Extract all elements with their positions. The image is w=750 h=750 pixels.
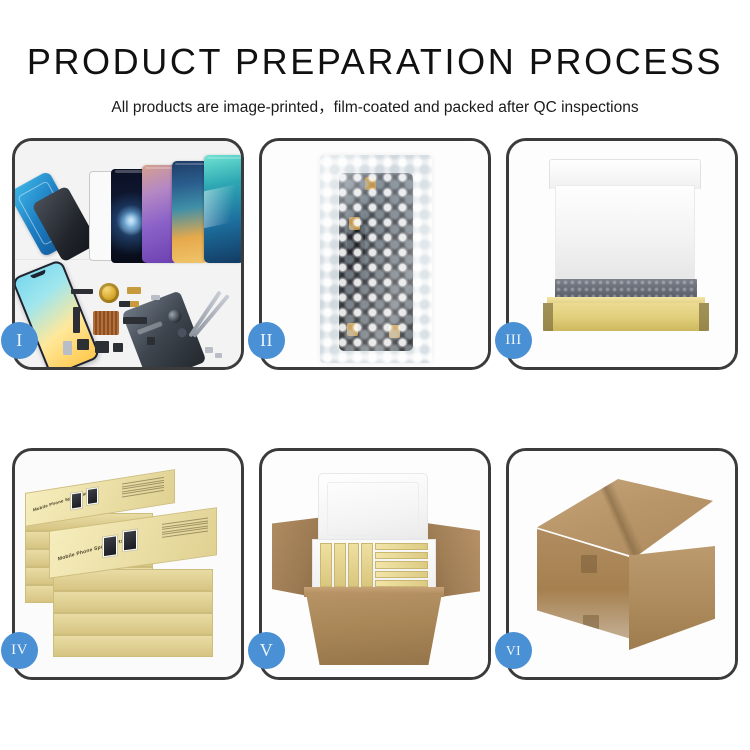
part-button-cap	[77, 339, 89, 350]
page-title: PRODUCT PREPARATION PROCESS	[0, 0, 750, 80]
phone-orange-icon	[172, 161, 208, 263]
part-screw-a	[205, 347, 213, 353]
step-badge-4: IV	[1, 632, 38, 669]
part-sim-tray	[113, 343, 123, 352]
inner-box-group-vertical	[320, 543, 373, 587]
carton-right-face	[629, 546, 715, 650]
stack-edge-f3	[53, 613, 213, 635]
part-gold-connector	[127, 287, 141, 294]
photo-open-carton	[262, 451, 488, 677]
step-panel-inner-box: III	[506, 138, 738, 370]
part-metal-bracket	[151, 295, 160, 300]
step-panel-carton-fill: V	[259, 448, 491, 680]
part-speaker-bar	[71, 289, 93, 294]
process-step-grid: I II	[12, 138, 738, 686]
phone-teal-icon	[204, 155, 241, 263]
camera-lens-icon	[166, 308, 183, 325]
part-flex-strip	[73, 307, 80, 333]
box-spec-lines-rear	[122, 477, 164, 498]
part-camera-module	[95, 341, 109, 353]
page-subtitle: All products are image-printed，film-coat…	[0, 80, 750, 116]
bubble-wrap-bag	[320, 155, 432, 363]
tape-seal-lower	[583, 615, 599, 631]
inner-box-group-horizontal	[375, 543, 428, 587]
step-panel-bubble-wrap: II	[259, 138, 491, 370]
part-metal-clip	[63, 341, 72, 355]
step-panel-sealed-carton: VI	[506, 448, 738, 680]
camera-lens-small-icon	[176, 327, 188, 339]
tape-seal-upper	[581, 555, 597, 573]
step-badge-6: VI	[495, 632, 532, 669]
copper-mesh-icon	[93, 311, 119, 335]
photo-sealed-carton	[509, 451, 735, 677]
box-spec-lines-front	[162, 517, 208, 537]
step-badge-3: III	[495, 322, 532, 359]
tweezers-icon	[188, 290, 222, 337]
step-panel-raw-parts: I	[12, 138, 244, 370]
photo-open-yellow-box	[509, 141, 735, 367]
step-badge-5: V	[248, 632, 285, 669]
header: PRODUCT PREPARATION PROCESS All products…	[0, 0, 750, 116]
part-flex-cable-b	[123, 317, 147, 324]
plastic-sheen	[320, 155, 432, 363]
photo-stacked-yellow-boxes: Mobile Phone Spare Parts Mobile	[15, 451, 241, 677]
box-phone-thumb-front-a	[102, 534, 118, 558]
carton-front-panel	[306, 593, 442, 665]
photo-bubble-wrapped-part	[262, 141, 488, 367]
step-badge-1: I	[1, 322, 38, 359]
box-phone-thumb-front-b	[122, 528, 138, 552]
step-badge-2: II	[248, 322, 285, 359]
vibration-motor-icon	[99, 283, 119, 303]
step-panel-stacked-boxes: Mobile Phone Spare Parts Mobile	[12, 448, 244, 680]
photo-parts-spread	[15, 141, 241, 367]
foam-pad-white	[555, 185, 695, 279]
stack-edge-f4	[53, 635, 213, 657]
foam-lid-white	[318, 473, 428, 545]
part-chip	[147, 337, 155, 345]
part-screw-b	[215, 353, 222, 358]
box-phone-thumb-rear-b	[86, 486, 99, 506]
box-stack: Mobile Phone Spare Parts Mobile	[15, 451, 241, 677]
inner-boxes-yellow	[320, 543, 428, 587]
part-flex-cable-a	[119, 301, 139, 307]
box-phone-thumb-rear-a	[70, 491, 83, 511]
stack-edge-f2	[53, 591, 213, 613]
box-front-yellow	[543, 303, 709, 331]
product-preparation-infographic: PRODUCT PREPARATION PROCESS All products…	[0, 0, 750, 750]
